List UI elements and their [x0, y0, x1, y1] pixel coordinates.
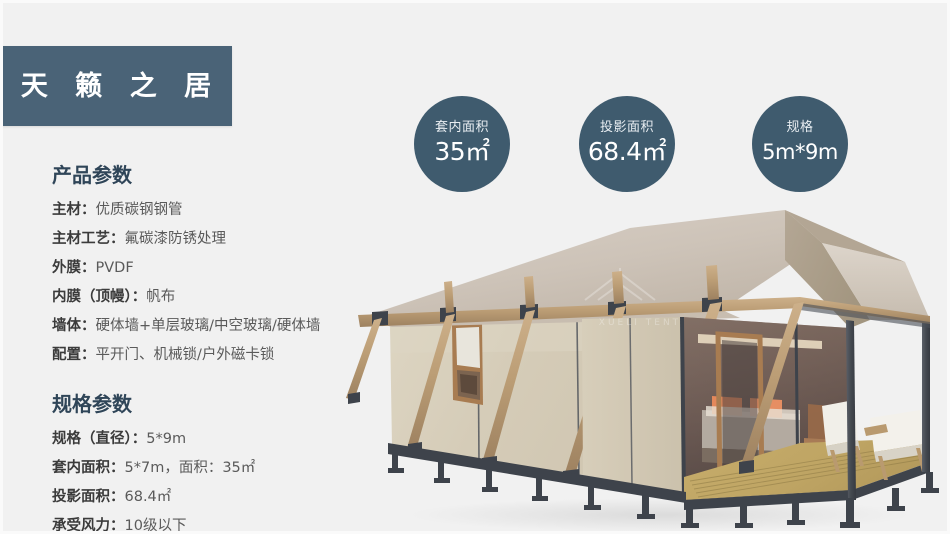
spec-value: PVDF	[96, 260, 134, 276]
title-banner: 天 籁 之 居	[0, 46, 232, 126]
spec-value: 优质碳钢钢管	[96, 202, 183, 218]
spec-value: 68.4㎡	[125, 489, 172, 505]
spec-row: 配置：平开门、机械锁/户外磁卡锁	[52, 341, 382, 370]
stat-badge-dimensions: 规格 5m*9m	[752, 96, 848, 192]
spec-row: 主材：优质碳钢钢管	[52, 196, 382, 225]
spec-label: 墙体：	[52, 318, 96, 334]
spec-label: 规格（直径）：	[52, 431, 146, 447]
slide-canvas: 天 籁 之 居 产品参数 主材：优质碳钢钢管 主材工艺：氟碳漆防锈处理 外膜：P…	[0, 0, 950, 534]
spec-column: 产品参数 主材：优质碳钢钢管 主材工艺：氟碳漆防锈处理 外膜：PVDF 内膜（顶…	[52, 163, 382, 534]
spec-value: 5*7m，面积：35㎡	[125, 460, 256, 476]
spec-row: 主材工艺：氟碳漆防锈处理	[52, 225, 382, 254]
spec-value: 硬体墙+单层玻璃/中空玻璃/硬体墙	[96, 318, 321, 334]
spec-row: 套内面积：5*7m，面积：35㎡	[52, 454, 382, 483]
spec-label: 投影面积：	[52, 489, 125, 505]
product-params-heading: 产品参数	[52, 163, 382, 187]
spec-value: 帆布	[146, 289, 175, 305]
stat-badge-group: 套内面积 35㎡ 投影面积 68.4㎡ 规格 5m*9m	[414, 96, 854, 196]
badge-label: 套内面积	[435, 120, 489, 136]
badge-label: 投影面积	[600, 120, 654, 136]
product-params-list: 主材：优质碳钢钢管 主材工艺：氟碳漆防锈处理 外膜：PVDF 内膜（顶幔）：帆布…	[52, 196, 382, 370]
spec-row: 内膜（顶幔）：帆布	[52, 283, 382, 312]
spec-label: 套内面积：	[52, 460, 125, 476]
badge-label: 规格	[786, 120, 813, 136]
canvas-wall-second	[582, 317, 684, 492]
spec-row: 外膜：PVDF	[52, 254, 382, 283]
page-title: 天 籁 之 居	[12, 73, 220, 100]
dimension-params-list: 规格（直径）：5*9m 套内面积：5*7m，面积：35㎡ 投影面积：68.4㎡ …	[52, 425, 382, 534]
tent-render-image: XUELI TENT	[330, 200, 950, 534]
brace-foot-cap-terrace	[739, 460, 754, 474]
stat-badge-projected-area: 投影面积 68.4㎡	[579, 96, 675, 192]
spec-label: 主材：	[52, 202, 96, 218]
spec-label: 承受风力：	[52, 518, 125, 534]
spec-label: 外膜：	[52, 260, 96, 276]
stat-badge-interior-area: 套内面积 35㎡	[414, 96, 510, 192]
spec-row: 投影面积：68.4㎡	[52, 483, 382, 512]
ground-shadow	[410, 498, 910, 532]
wall-window-glass	[456, 327, 480, 368]
badge-value: 5m*9m	[762, 137, 838, 167]
badge-value: 68.4㎡	[588, 137, 666, 167]
spec-value: 氟碳漆防锈处理	[125, 231, 227, 247]
spec-label: 主材工艺：	[52, 231, 125, 247]
glass-mullion	[682, 317, 684, 500]
badge-value: 35㎡	[434, 137, 489, 167]
spec-row: 承受风力：10级以下	[52, 512, 382, 534]
spec-label: 配置：	[52, 347, 96, 363]
spec-value: 10级以下	[125, 518, 187, 534]
wall-window-open-leaf-inner	[460, 374, 477, 395]
dimension-params-heading: 规格参数	[52, 392, 382, 416]
spec-row: 规格（直径）：5*9m	[52, 425, 382, 454]
spec-row: 墙体：硬体墙+单层玻璃/中空玻璃/硬体墙	[52, 312, 382, 341]
spec-label: 内膜（顶幔）：	[52, 289, 146, 305]
spec-value: 5*9m	[146, 431, 186, 447]
spec-value: 平开门、机械锁/户外磁卡锁	[96, 347, 275, 363]
